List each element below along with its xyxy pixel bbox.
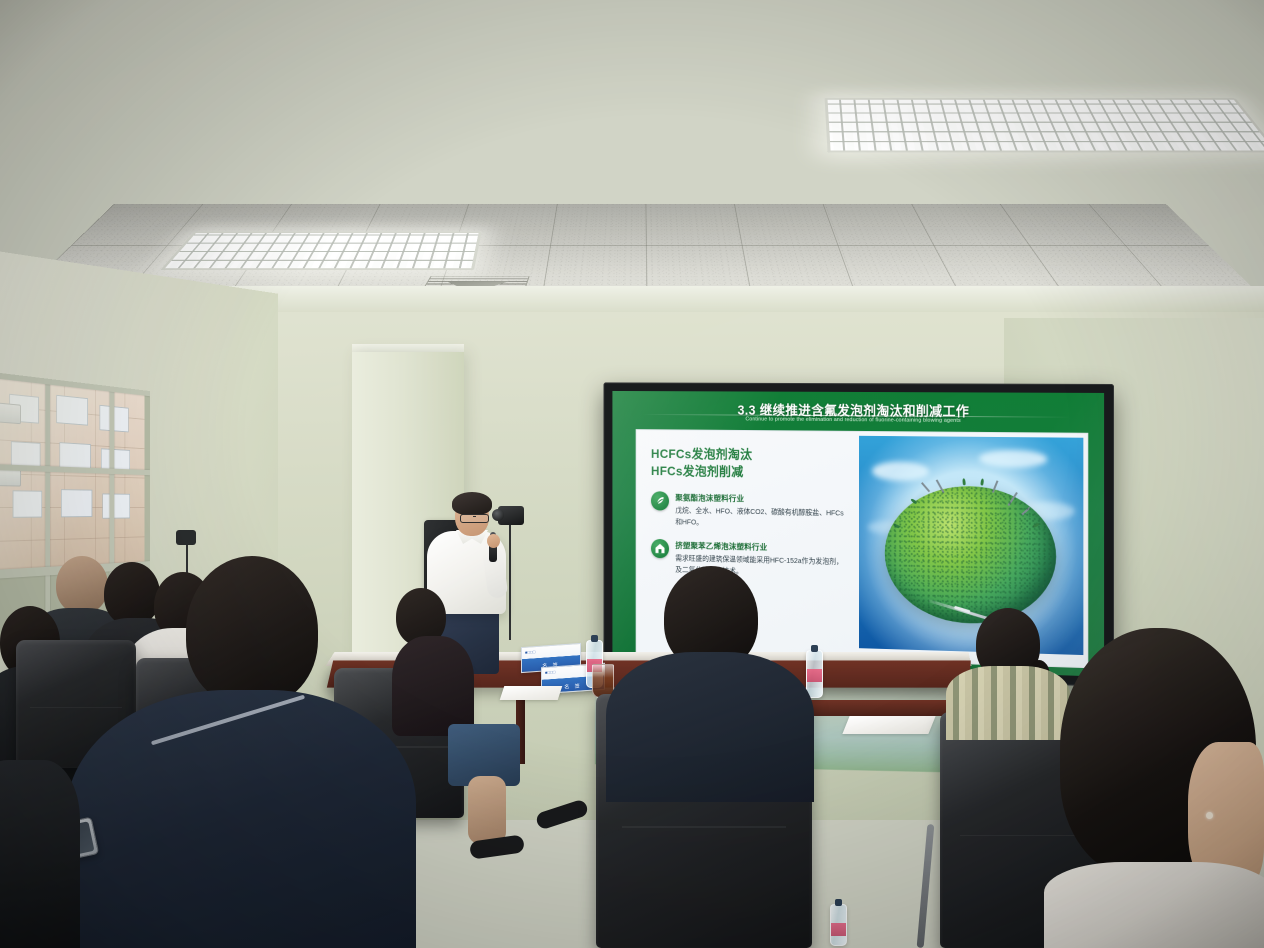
slide-heading-line-2: HFCs发泡剂削减 [651,462,849,481]
leaf-badge-icon [651,491,669,510]
window-mullion [45,378,50,635]
green-planet-photo [859,436,1084,655]
attendee-body [1044,862,1264,948]
slide-image-column [857,432,1088,667]
slide-bullet-1-heading: 聚氨酯泡沫塑料行业 [675,492,849,506]
house-badge-icon [651,539,669,558]
attendee-body [946,666,1070,740]
paper-document [842,716,935,734]
ceiling-light-fixture [825,98,1264,152]
conference-room-photo: 3.3 继续推进含氟发泡剂淘汰和削减工作 Continue to promote… [0,0,1264,948]
attendee-body [0,760,80,948]
slide-heading-line-1: HCFCs发泡剂淘汰 [651,445,849,464]
camera-icon [176,530,196,545]
water-bottle [806,650,823,698]
attendee-body [606,652,814,802]
attendee-body [66,690,416,948]
attendee-body [392,636,474,736]
attendee-head [104,562,160,626]
slide-bullet-1: 聚氨酯泡沫塑料行业 戊烷、全水、HFO、液体CO2、碳酸有机醇胺盐、HFCs和H… [651,491,849,530]
slide-bullet-2: 挤塑聚苯乙烯泡沫塑料行业 需求旺盛的建筑保温领域能采用HFC-152a作为发泡剂… [651,539,849,579]
attendee-head [56,556,108,614]
camera-stand [509,524,511,640]
presenter-hair [452,492,492,515]
water-bottle [830,904,847,946]
paper-document [500,686,563,700]
attendee-head [186,556,318,706]
slide-bullet-1-text: 戊烷、全水、HFO、液体CO2、碳酸有机醇胺盐、HFCs和HFO。 [675,505,849,530]
presenter-hand [487,534,500,548]
wall-soffit [150,286,1264,312]
eyeglasses-icon [460,514,489,523]
attendee-earring-icon [1206,812,1213,819]
slide-bullet-2-heading: 挤塑聚苯乙烯泡沫塑料行业 [675,539,849,554]
attendee-leg [468,776,506,844]
camera-icon [498,506,524,525]
ceiling-light-fixture [160,232,481,270]
